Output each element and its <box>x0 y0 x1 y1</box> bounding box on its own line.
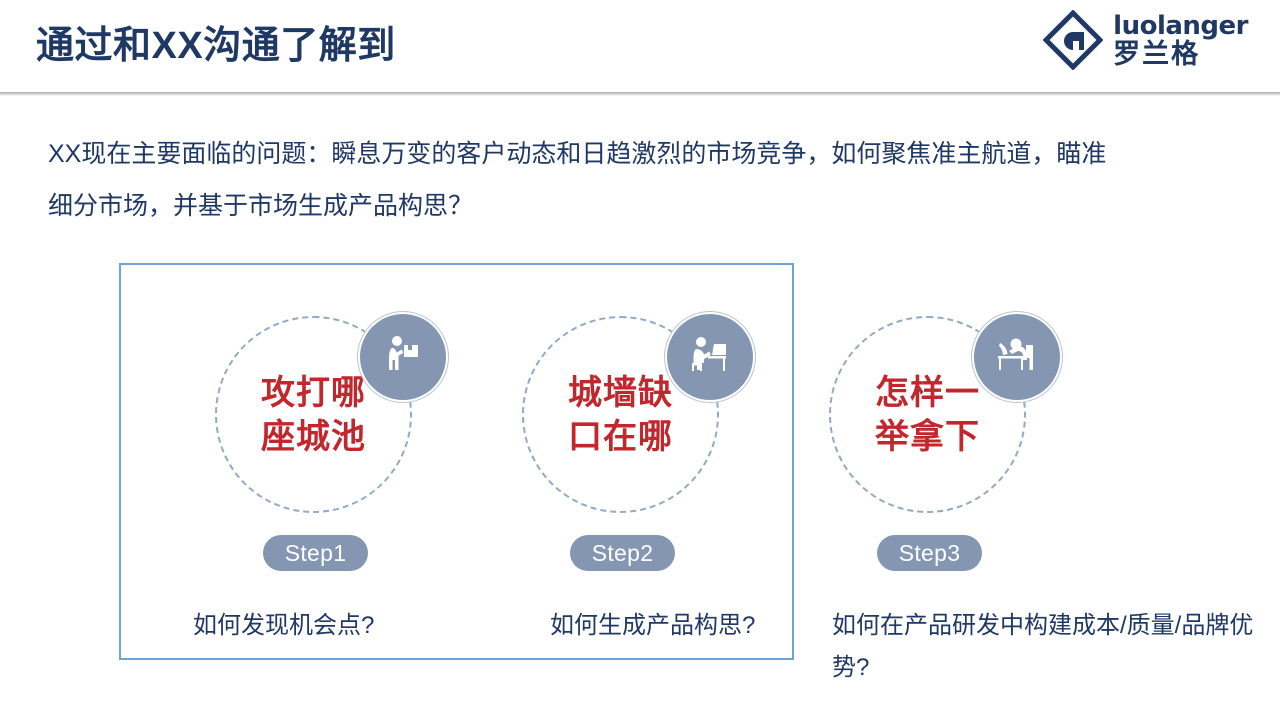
person-at-desk-icon <box>685 332 735 382</box>
step-caption: 如何发现机会点? <box>193 605 453 647</box>
step-badge <box>972 312 1062 402</box>
step-badge <box>665 312 755 402</box>
step-item: 攻打哪 座城池 Step1 如何发现机会点? <box>163 310 463 710</box>
step-headline-line2: 举拿下 <box>875 415 980 459</box>
person-working-at-computer-icon <box>992 332 1042 382</box>
step-pill: Step1 <box>263 535 368 571</box>
person-carrying-box-icon <box>378 332 428 382</box>
step-pill: Step3 <box>877 535 982 571</box>
step-headline-line2: 座城池 <box>261 415 366 459</box>
step-item: 城墙缺 口在哪 Step2 如何生成产品构思? <box>470 310 770 710</box>
step-headline-line1: 城墙缺 <box>568 371 673 415</box>
step-caption: 如何在产品研发中构建成本/质量/品牌优势? <box>832 605 1280 689</box>
steps-container: 攻打哪 座城池 Step1 如何发现机会点? 城墙缺 口在哪 <box>0 0 1280 720</box>
step-caption: 如何生成产品构思? <box>550 605 810 647</box>
step-headline-line1: 怎样一 <box>875 371 980 415</box>
step-headline-line2: 口在哪 <box>568 415 673 459</box>
step-headline-line1: 攻打哪 <box>261 371 366 415</box>
step-item: 怎样一 举拿下 Step3 如何在产品研发中构建成本/质量/品牌优势? <box>777 310 1077 710</box>
step-badge <box>358 312 448 402</box>
step-pill: Step2 <box>570 535 675 571</box>
